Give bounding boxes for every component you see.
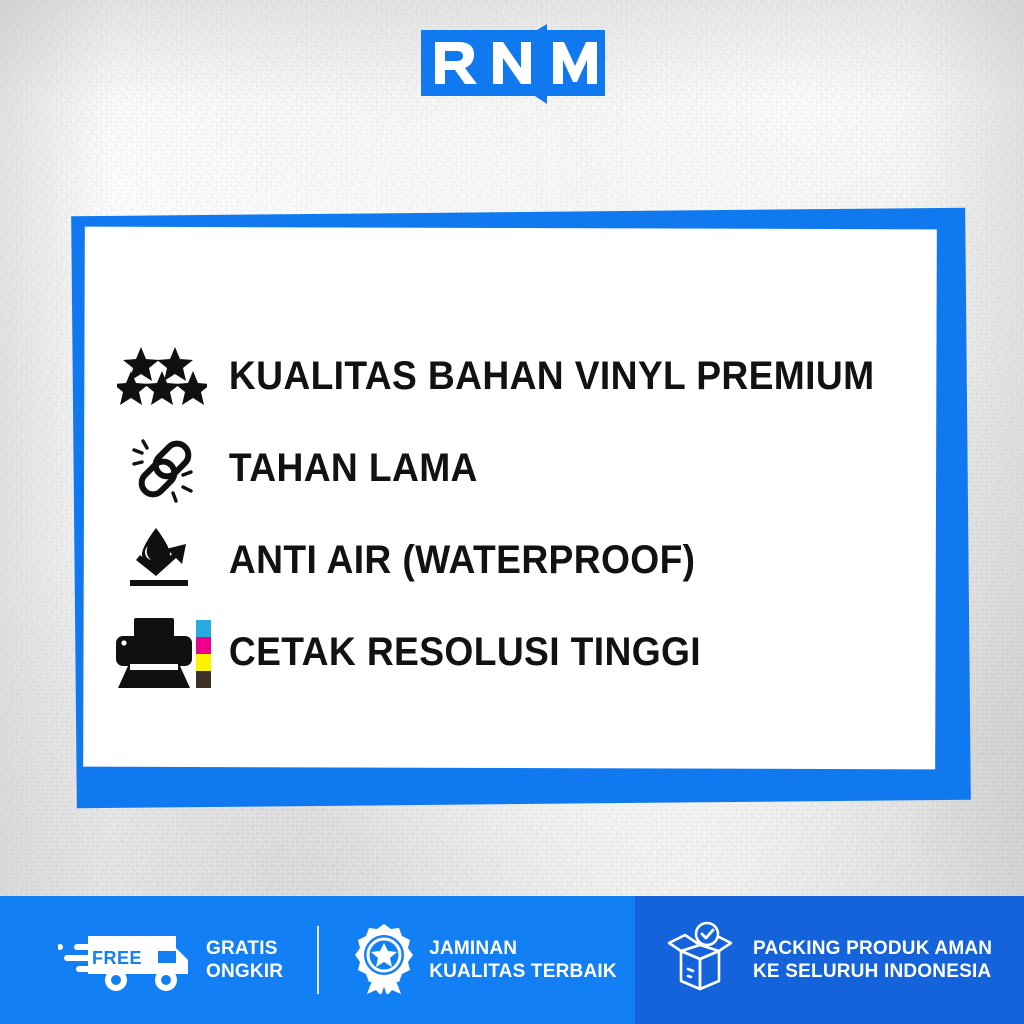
banner-divider: [317, 926, 319, 994]
banner-text-line1: GRATIS: [206, 937, 283, 960]
banner-text-line1: JAMINAN: [429, 937, 617, 960]
five-stars-icon: [110, 345, 214, 407]
banner-text-line1: PACKING PRODUK AMAN: [753, 937, 992, 960]
feature-label: TAHAN LAMA: [214, 446, 478, 491]
banner-right-panel: PACKING PRODUK AMAN KE SELURUH INDONESIA: [635, 896, 1024, 1024]
banner-text-line2: KUALITAS TERBAIK: [429, 960, 617, 983]
feature-label: CETAK RESOLUSI TINGGI: [214, 630, 701, 675]
feature-row: KUALITAS BAHAN VINYL PREMIUM: [110, 330, 940, 422]
banner-item-free-shipping: FREE GRATIS ONGKIR: [58, 924, 283, 996]
waterproof-drop-icon: [110, 524, 214, 596]
banner-item-quality: JAMINAN KUALITAS TERBAIK: [353, 922, 617, 999]
product-feature-graphic: KUALITAS BAHAN VINYL PREMIUM: [0, 0, 1024, 1024]
feature-label: ANTI AIR (WATERPROOF): [214, 538, 695, 583]
banner-text-line2: KE SELURUH INDONESIA: [753, 960, 992, 983]
feature-list: KUALITAS BAHAN VINYL PREMIUM: [110, 330, 940, 698]
banner-item-packing: PACKING PRODUK AMAN KE SELURUH INDONESIA: [661, 921, 992, 1000]
feature-row: ANTI AIR (WATERPROOF): [110, 514, 940, 606]
cmyk-bars: [196, 620, 211, 688]
feature-row: TAHAN LAMA: [110, 422, 940, 514]
brand-logo: [0, 16, 1024, 112]
trust-banner: FREE GRATIS ONGKIR: [0, 896, 1024, 1024]
free-badge-text: FREE: [92, 948, 142, 969]
banner-text-line2: ONGKIR: [206, 960, 283, 983]
banner-left-panel: FREE GRATIS ONGKIR: [0, 896, 635, 1024]
feature-label: KUALITAS BAHAN VINYL PREMIUM: [214, 354, 874, 399]
chain-link-icon: [110, 431, 214, 505]
secure-package-check-icon: [661, 921, 739, 1000]
printer-cmyk-icon: [110, 614, 214, 690]
quality-award-badge-icon: [353, 922, 415, 999]
feature-row: CETAK RESOLUSI TINGGI: [110, 606, 940, 698]
rnm-logo-icon: [419, 22, 605, 106]
printer-body: [116, 618, 192, 688]
delivery-truck-icon: FREE: [58, 924, 194, 996]
